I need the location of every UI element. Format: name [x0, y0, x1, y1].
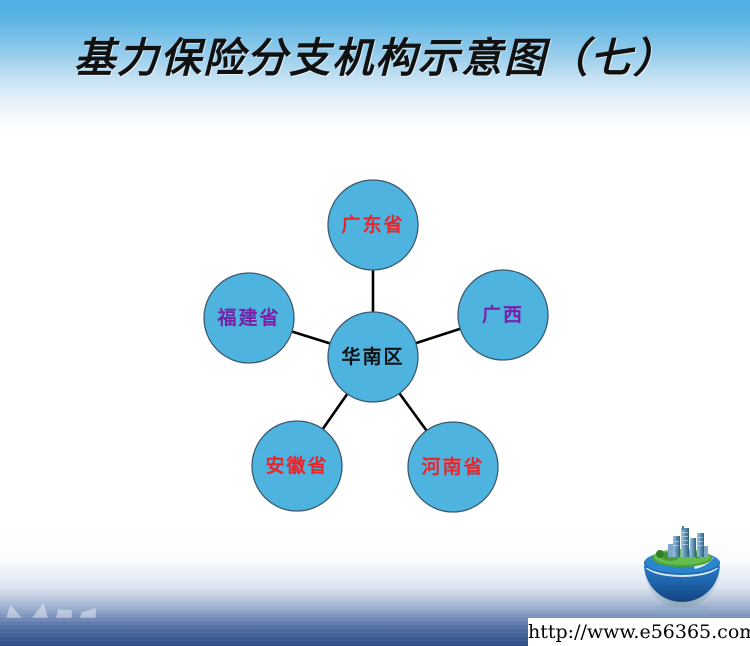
site-url-watermark: http://www.e56365.com [528, 618, 750, 646]
diagram-node-hua-nan-qu[interactable]: 华南区 [328, 312, 418, 402]
connector-hua-nan-qu-to-fujian [291, 331, 331, 344]
connector-hua-nan-qu-to-guangxi [415, 329, 461, 344]
node-label-guangxi: 广西 [482, 303, 524, 326]
node-layer: 广东省广西河南省安徽省福建省华南区 [204, 180, 548, 512]
node-label-guangdong: 广东省 [341, 213, 404, 236]
node-label-fujian: 福建省 [216, 306, 280, 329]
slide-canvas: 基力保险分支机构示意图（七） 广东省广西河南省安徽省福建省华南区 [0, 0, 750, 646]
globe-city-logo [636, 524, 728, 616]
connector-hua-nan-qu-to-anhui [322, 393, 348, 430]
diagram-node-guangxi[interactable]: 广西 [458, 270, 548, 360]
node-label-henan: 河南省 [421, 456, 484, 478]
diagram-node-anhui[interactable]: 安徽省 [252, 421, 342, 511]
diagram-node-fujian[interactable]: 福建省 [204, 273, 294, 363]
diagram-node-guangdong[interactable]: 广东省 [328, 180, 418, 270]
connector-hua-nan-qu-to-henan [399, 393, 427, 432]
node-label-anhui: 安徽省 [265, 454, 328, 477]
node-label-hua-nan-qu: 华南区 [341, 345, 404, 368]
diagram-node-henan[interactable]: 河南省 [408, 422, 498, 512]
